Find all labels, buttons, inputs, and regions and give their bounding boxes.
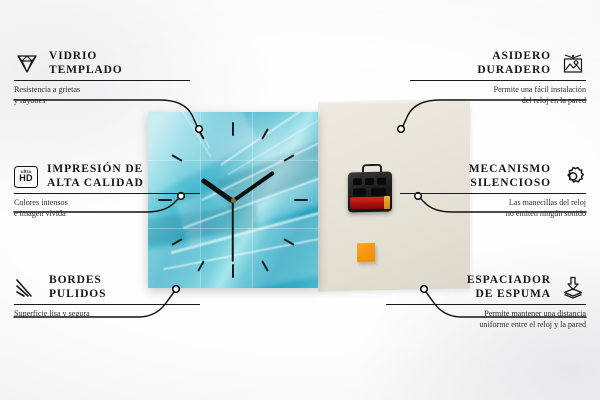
gear-icon: [560, 165, 586, 188]
connector-endpoint: [196, 126, 203, 133]
infographic-canvas: VIDRIO TEMPLADO Resistencia a grietas y …: [0, 0, 600, 400]
feature-impresion-alta-calidad: ultra HD IMPRESIÓN DE ALTA CALIDAD Color…: [14, 163, 200, 219]
ultra-hd-icon: ultra HD: [14, 166, 38, 188]
feature-description: Resistencia a grietas y rayones: [14, 85, 190, 106]
divider: [14, 304, 200, 305]
feature-asidero-duradero: ASIDERO DURADERO Permite una fácil insta…: [410, 50, 586, 106]
diamond-icon: [14, 53, 40, 75]
feature-bordes-pulidos: BORDES PULIDOS Superficie lisa y segura: [14, 274, 200, 320]
feature-title: ASIDERO DURADERO: [477, 50, 551, 77]
polished-edges-icon: [14, 277, 40, 299]
feature-description: Permite mantener una distancia uniforme …: [386, 309, 586, 330]
feature-title: BORDES PULIDOS: [49, 274, 106, 301]
feature-description: Colores intensos e imagen vívida: [14, 198, 200, 219]
feature-description: Superficie lisa y segura: [14, 309, 200, 320]
feature-header: MECANISMO SILENCIOSO: [400, 163, 586, 190]
divider: [386, 304, 586, 305]
feature-header: BORDES PULIDOS: [14, 274, 200, 301]
feature-title: ESPACIADOR DE ESPUMA: [467, 274, 551, 301]
picture-frame-hanging-icon: [560, 53, 586, 75]
feature-header: VIDRIO TEMPLADO: [14, 50, 190, 77]
feature-mecanismo-silencioso: MECANISMO SILENCIOSO Las manecillas del …: [400, 163, 586, 219]
feature-vidrio-templado: VIDRIO TEMPLADO Resistencia a grietas y …: [14, 50, 190, 106]
divider: [14, 80, 190, 81]
feature-description: Permite una fácil instalación del reloj …: [410, 85, 586, 106]
feature-description: Las manecillas del reloj no emiten ningú…: [400, 198, 586, 219]
feature-espaciador-espuma: ESPACIADOR DE ESPUMA Permite mantener un…: [386, 274, 586, 330]
feature-title: VIDRIO TEMPLADO: [49, 50, 123, 77]
feature-header: ESPACIADOR DE ESPUMA: [386, 274, 586, 301]
feature-title: MECANISMO SILENCIOSO: [469, 163, 551, 190]
feature-header: ASIDERO DURADERO: [410, 50, 586, 77]
divider: [410, 80, 586, 81]
feature-title: IMPRESIÓN DE ALTA CALIDAD: [47, 163, 144, 190]
connector-endpoint: [398, 126, 405, 133]
divider: [14, 193, 200, 194]
ultra-hd-icon-main: HD: [19, 174, 32, 183]
divider: [400, 193, 586, 194]
feature-header: ultra HD IMPRESIÓN DE ALTA CALIDAD: [14, 163, 200, 190]
arrow-down-pad-icon: [560, 276, 586, 300]
